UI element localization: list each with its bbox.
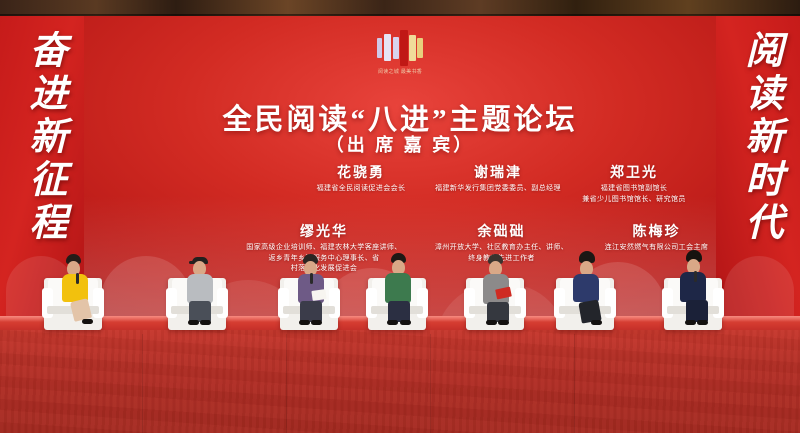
torso: [187, 274, 213, 303]
guest-block: 缪光华 国家高级企业培训师、福建农林大学客座讲师、 返乡青年乡建服务中心理事长、…: [234, 221, 414, 275]
guest-name: 花骁勇: [306, 162, 416, 182]
logo-bar-gold-2: [417, 38, 423, 58]
guest-title-line: 兼省少儿图书馆馆长、研究馆员: [564, 195, 704, 206]
left-banner-text: 奋进新征程: [19, 30, 65, 245]
guest-name: 陈梅珍: [574, 221, 716, 241]
logo-bar-gold-1: [409, 35, 416, 61]
book-logo-icon: 阅读之城 最美书香: [371, 30, 429, 80]
torso: [385, 273, 411, 303]
armrest-left: [366, 288, 377, 318]
shoe: [685, 320, 696, 325]
guest-title-line: 漳州开放大学、社区教育办主任、讲师、: [414, 243, 589, 254]
shoe: [697, 320, 708, 325]
torso: [680, 272, 706, 302]
guest-name: 余础础: [414, 221, 589, 241]
armrest-right: [713, 288, 724, 318]
guest-title: 福建省图书馆副馆长 兼省少儿图书馆馆长、研究馆员: [564, 184, 704, 205]
shoe: [486, 320, 497, 325]
guest-title: 国家高级企业培训师、福建农林大学客座讲师、 返乡青年乡建服务中心理事长、省 村落…: [234, 243, 414, 275]
paper-sheet: [311, 289, 326, 301]
shoe: [82, 319, 93, 324]
armrest-right: [515, 288, 526, 318]
guest-title-line: 福建省全民阅读促进会会长: [306, 184, 416, 195]
logo-bar-red-center: [400, 30, 408, 66]
logo-bar-violet-3: [393, 37, 399, 59]
shoe: [311, 320, 322, 325]
stage-apron-seam: [574, 334, 575, 433]
shoe: [498, 320, 509, 325]
torso: [573, 274, 599, 302]
shoe: [188, 320, 199, 325]
guest-title-line: 村落文化发展促进会: [234, 264, 414, 275]
guest-block: 陈梅珍 连江安然燃气有限公司工会主席: [574, 221, 716, 254]
shoe: [200, 320, 211, 325]
guest-name: 缪光华: [234, 221, 414, 241]
armrest-right: [329, 288, 340, 318]
guest-name: 郑卫光: [564, 162, 704, 182]
legs: [189, 301, 211, 322]
guest-block: 花骁勇 福建省全民阅读促进会会长: [306, 162, 416, 195]
guest-title-line: 返乡青年乡建服务中心理事长、省: [234, 254, 414, 265]
logo-caption: 阅读之城 最美书香: [371, 68, 429, 75]
right-vertical-banner: 阅读新时代: [716, 16, 800, 316]
guest-block: 郑卫光 福建省图书馆副馆长 兼省少儿图书馆馆长、研究馆员: [564, 162, 704, 205]
guest-title-line: 福建省图书馆副馆长: [564, 184, 704, 195]
shoe: [400, 320, 411, 325]
stage-apron-seam: [142, 334, 143, 433]
armrest-right: [93, 288, 104, 318]
guest-title-line: 国家高级企业培训师、福建农林大学客座讲师、: [234, 243, 414, 254]
page-subtitle: （出 席 嘉 宾）: [84, 131, 716, 157]
stage-apron-texture: [0, 330, 800, 433]
armrest-left: [662, 288, 673, 318]
shoe: [591, 320, 602, 325]
guest-title-line: 福建新华发行集团党委委员、副总经理: [418, 184, 578, 195]
stage-apron-seam: [430, 334, 431, 433]
logo-bar-violet-1: [377, 38, 382, 58]
armrest-left: [42, 288, 53, 318]
book-logo-bars: [371, 30, 429, 66]
guest-title: 福建新华发行集团党委委员、副总经理: [418, 184, 578, 195]
armrest-right: [417, 288, 428, 318]
logo-bar-violet-2: [384, 34, 391, 61]
microphone-icon: [76, 273, 79, 284]
right-banner-text: 阅读新时代: [735, 30, 781, 245]
armrest-right: [605, 288, 616, 318]
microphone-icon: [310, 273, 313, 284]
shoe: [299, 320, 310, 325]
legs: [300, 301, 322, 322]
legs: [388, 301, 410, 322]
guest-title: 福建省全民阅读促进会会长: [306, 184, 416, 195]
guest-name: 谢瑞津: [418, 162, 578, 182]
armrest-left: [278, 288, 289, 318]
legs: [686, 300, 708, 322]
forum-stage-photo: 奋进新征程 阅读新时代 阅读之城 最美书香 全民阅读“八进”主题论坛 （出 席 …: [0, 0, 800, 433]
armrest-left: [166, 288, 177, 318]
armrest-left: [464, 288, 475, 318]
armrest-right: [217, 288, 228, 318]
stage-apron-seam: [286, 334, 287, 433]
armrest-left: [554, 288, 565, 318]
legs: [487, 302, 509, 322]
microphone-icon: [694, 271, 697, 282]
shoe: [387, 320, 398, 325]
guest-block: 谢瑞津 福建新华发行集团党委委员、副总经理: [418, 162, 578, 195]
